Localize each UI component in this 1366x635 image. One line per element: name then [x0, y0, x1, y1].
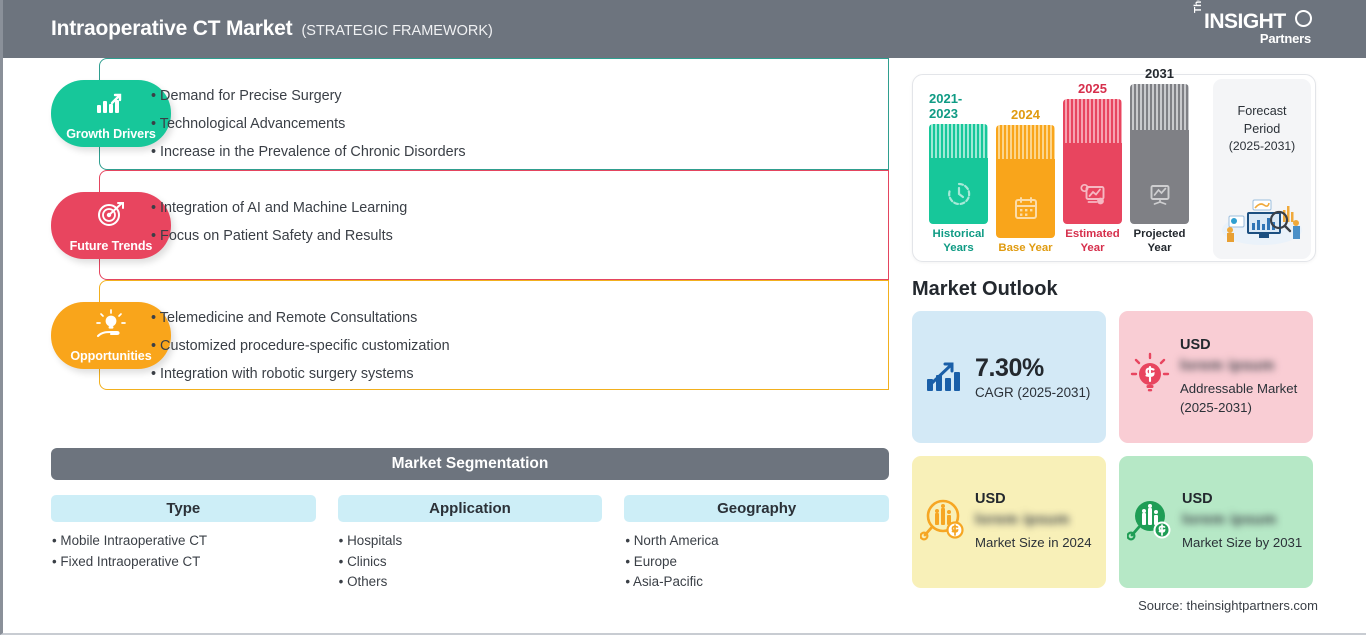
segmentation-list: Mobile Intraoperative CT Fixed Intraoper…	[51, 531, 316, 572]
segmentation-column-title: Application	[338, 495, 603, 522]
page-header: Intraoperative CT Market (STRATEGIC FRAM…	[3, 0, 1366, 58]
bullet-item: Integration of AI and Machine Learning	[151, 194, 407, 222]
timeline-year-label: 2031	[1145, 66, 1174, 81]
growth-drivers-label: Growth Drivers	[66, 127, 156, 147]
lightbulb-hand-icon	[92, 309, 130, 346]
segmentation-column-type: Type Mobile Intraoperative CT Fixed Intr…	[51, 495, 316, 593]
segmentation-column-title: Geography	[624, 495, 889, 522]
source-attribution: Source: theinsightpartners.com	[1138, 598, 1318, 613]
timeline-year-label: 2024	[1011, 107, 1040, 122]
bar-hatch-top	[996, 125, 1055, 159]
list-item: Mobile Intraoperative CT	[52, 531, 316, 552]
bar-hatch-top	[1130, 84, 1189, 130]
timeline-bar	[1130, 84, 1189, 224]
magnifier-chart-dollar-icon	[1127, 497, 1175, 548]
timeline-col-historical: 2021-2023 Historical Years	[929, 91, 988, 255]
forecast-label-line1: Forecast	[1213, 103, 1311, 121]
list-item: Hospitals	[339, 531, 603, 552]
forecast-range: (2025-2031)	[1213, 139, 1311, 153]
card-caption: Market Size by 2031	[1182, 533, 1305, 553]
outlook-card-market-size-2024[interactable]: USD lorem ipsum Market Size in 2024	[912, 456, 1106, 588]
future-trends-bullets: Integration of AI and Machine Learning F…	[151, 170, 407, 280]
bullet-item: Demand for Precise Surgery	[151, 82, 466, 110]
opportunities-bullets: Telemedicine and Remote Consultations Cu…	[151, 280, 450, 390]
timeline-col-estimated: 2025	[1063, 81, 1122, 255]
bullet-item: Technological Advancements	[151, 110, 466, 138]
cagr-body: 7.30% CAGR (2025-2031)	[975, 354, 1098, 400]
segmentation-list: Hospitals Clinics Others	[338, 531, 603, 593]
list-item: Asia-Pacific	[625, 572, 889, 593]
timeline-bars: 2021-2023 Historical Years	[929, 85, 1189, 255]
study-period-timeline-chart: 2021-2023 Historical Years	[912, 74, 1316, 262]
forecast-label-line2: Period	[1213, 121, 1311, 139]
card-caption: Addressable Market (2025-2031)	[1180, 379, 1305, 418]
bullet-item: Focus on Patient Safety and Results	[151, 222, 407, 250]
card-caption: Market Size in 2024	[975, 533, 1098, 553]
bar-chart-growth-icon	[92, 87, 130, 122]
bar-hatch-top	[1063, 99, 1122, 143]
bullet-item: Integration with robotic surgery systems	[151, 360, 450, 388]
framework-section-opportunities: Opportunities Telemedicine and Remote Co…	[51, 280, 903, 390]
header-title-group: Intraoperative CT Market (STRATEGIC FRAM…	[51, 17, 493, 41]
page-title: Intraoperative CT Market	[51, 17, 292, 41]
list-item: Clinics	[339, 552, 603, 573]
opportunities-label: Opportunities	[70, 349, 151, 369]
market-segmentation: Market Segmentation Type Mobile Intraope…	[51, 448, 889, 593]
segmentation-column-application: Application Hospitals Clinics Others	[338, 495, 603, 593]
logo-ring-icon	[1295, 10, 1312, 27]
timeline-bar	[929, 124, 988, 224]
outlook-cards: 7.30% CAGR (2025-2031) USD lorem	[912, 311, 1322, 588]
timeline-col-base: 2024	[996, 107, 1055, 255]
history-clock-icon	[946, 181, 972, 212]
bar-hatch-top	[929, 124, 988, 158]
timeline-year-label: 2025	[1078, 81, 1107, 96]
page-subtitle: (STRATEGIC FRAMEWORK)	[301, 23, 492, 39]
segmentation-header: Market Segmentation	[51, 448, 889, 480]
blurred-value: lorem ipsum	[1180, 357, 1305, 374]
bar-solid	[1130, 130, 1189, 224]
market-size-2031-body: USD lorem ipsum Market Size by 2031	[1182, 491, 1305, 553]
timeline-category-label: Projected Year	[1130, 228, 1189, 255]
timeline-bar	[996, 125, 1055, 238]
timeline-category-label: Base Year	[998, 242, 1052, 255]
future-trends-label: Future Trends	[70, 239, 153, 259]
bar-chart-arrow-up-icon	[920, 353, 968, 402]
list-item: Others	[339, 572, 603, 593]
market-outlook-title: Market Outlook	[912, 278, 1322, 301]
target-dart-icon	[92, 199, 130, 234]
magnifier-chart-dollar-icon	[920, 497, 968, 548]
logo-partners-text: Partners	[1260, 31, 1311, 46]
timeline-bar	[1063, 99, 1122, 224]
bullet-item: Increase in the Prevalence of Chronic Di…	[151, 138, 466, 166]
list-item: Europe	[625, 552, 889, 573]
lightbulb-dollar-icon	[1127, 352, 1173, 403]
bar-solid	[996, 159, 1055, 238]
growth-drivers-bullets: Demand for Precise Surgery Technological…	[151, 58, 466, 170]
outlook-card-cagr[interactable]: 7.30% CAGR (2025-2031)	[912, 311, 1106, 443]
framework-column: Growth Drivers Demand for Precise Surger…	[3, 58, 903, 390]
bar-solid	[929, 158, 988, 224]
list-item: Fixed Intraoperative CT	[52, 552, 316, 573]
logo-the-text: The	[1193, 0, 1204, 13]
forecast-period-panel: Forecast Period (2025-2031)	[1213, 79, 1311, 259]
outlook-column: 2021-2023 Historical Years	[912, 74, 1322, 588]
market-size-2024-body: USD lorem ipsum Market Size in 2024	[975, 491, 1098, 553]
cagr-value: 7.30%	[975, 354, 1098, 383]
segmentation-columns: Type Mobile Intraoperative CT Fixed Intr…	[51, 495, 889, 593]
forecast-gear-chart-icon	[1079, 181, 1106, 212]
outlook-card-market-size-2031[interactable]: USD lorem ipsum Market Size by 2031	[1119, 456, 1313, 588]
infographic-page: Intraoperative CT Market (STRATEGIC FRAM…	[0, 0, 1366, 635]
insight-partners-logo: The INSIGHT Partners	[1193, 9, 1313, 51]
bullet-item: Customized procedure-specific customizat…	[151, 332, 450, 360]
timeline-category-label: Historical Years	[929, 228, 988, 255]
outlook-card-addressable-market[interactable]: USD lorem ipsum Addressable Market (2025…	[1119, 311, 1313, 443]
framework-section-future-trends: Future Trends Integration of AI and Mach…	[51, 170, 903, 280]
calendar-icon	[1013, 195, 1039, 226]
bar-solid	[1063, 143, 1122, 224]
currency-label: USD	[1182, 491, 1305, 507]
segmentation-column-geography: Geography North America Europe Asia-Paci…	[624, 495, 889, 593]
bullet-item: Telemedicine and Remote Consultations	[151, 304, 450, 332]
projection-screen-icon	[1146, 181, 1173, 212]
currency-label: USD	[975, 491, 1098, 507]
addressable-market-body: USD lorem ipsum Addressable Market (2025…	[1180, 337, 1305, 418]
list-item: North America	[625, 531, 889, 552]
timeline-year-label: 2021-2023	[929, 91, 988, 121]
framework-section-growth-drivers: Growth Drivers Demand for Precise Surger…	[51, 58, 903, 170]
timeline-category-label: Estimated Year	[1063, 228, 1122, 255]
analytics-dashboard-illustration	[1217, 190, 1307, 251]
currency-label: USD	[1180, 337, 1305, 353]
blurred-value: lorem ipsum	[975, 511, 1098, 528]
segmentation-column-title: Type	[51, 495, 316, 522]
segmentation-list: North America Europe Asia-Pacific	[624, 531, 889, 593]
timeline-col-projected: 2031 Pro	[1130, 66, 1189, 255]
cagr-caption: CAGR (2025-2031)	[975, 385, 1098, 400]
blurred-value: lorem ipsum	[1182, 511, 1305, 528]
